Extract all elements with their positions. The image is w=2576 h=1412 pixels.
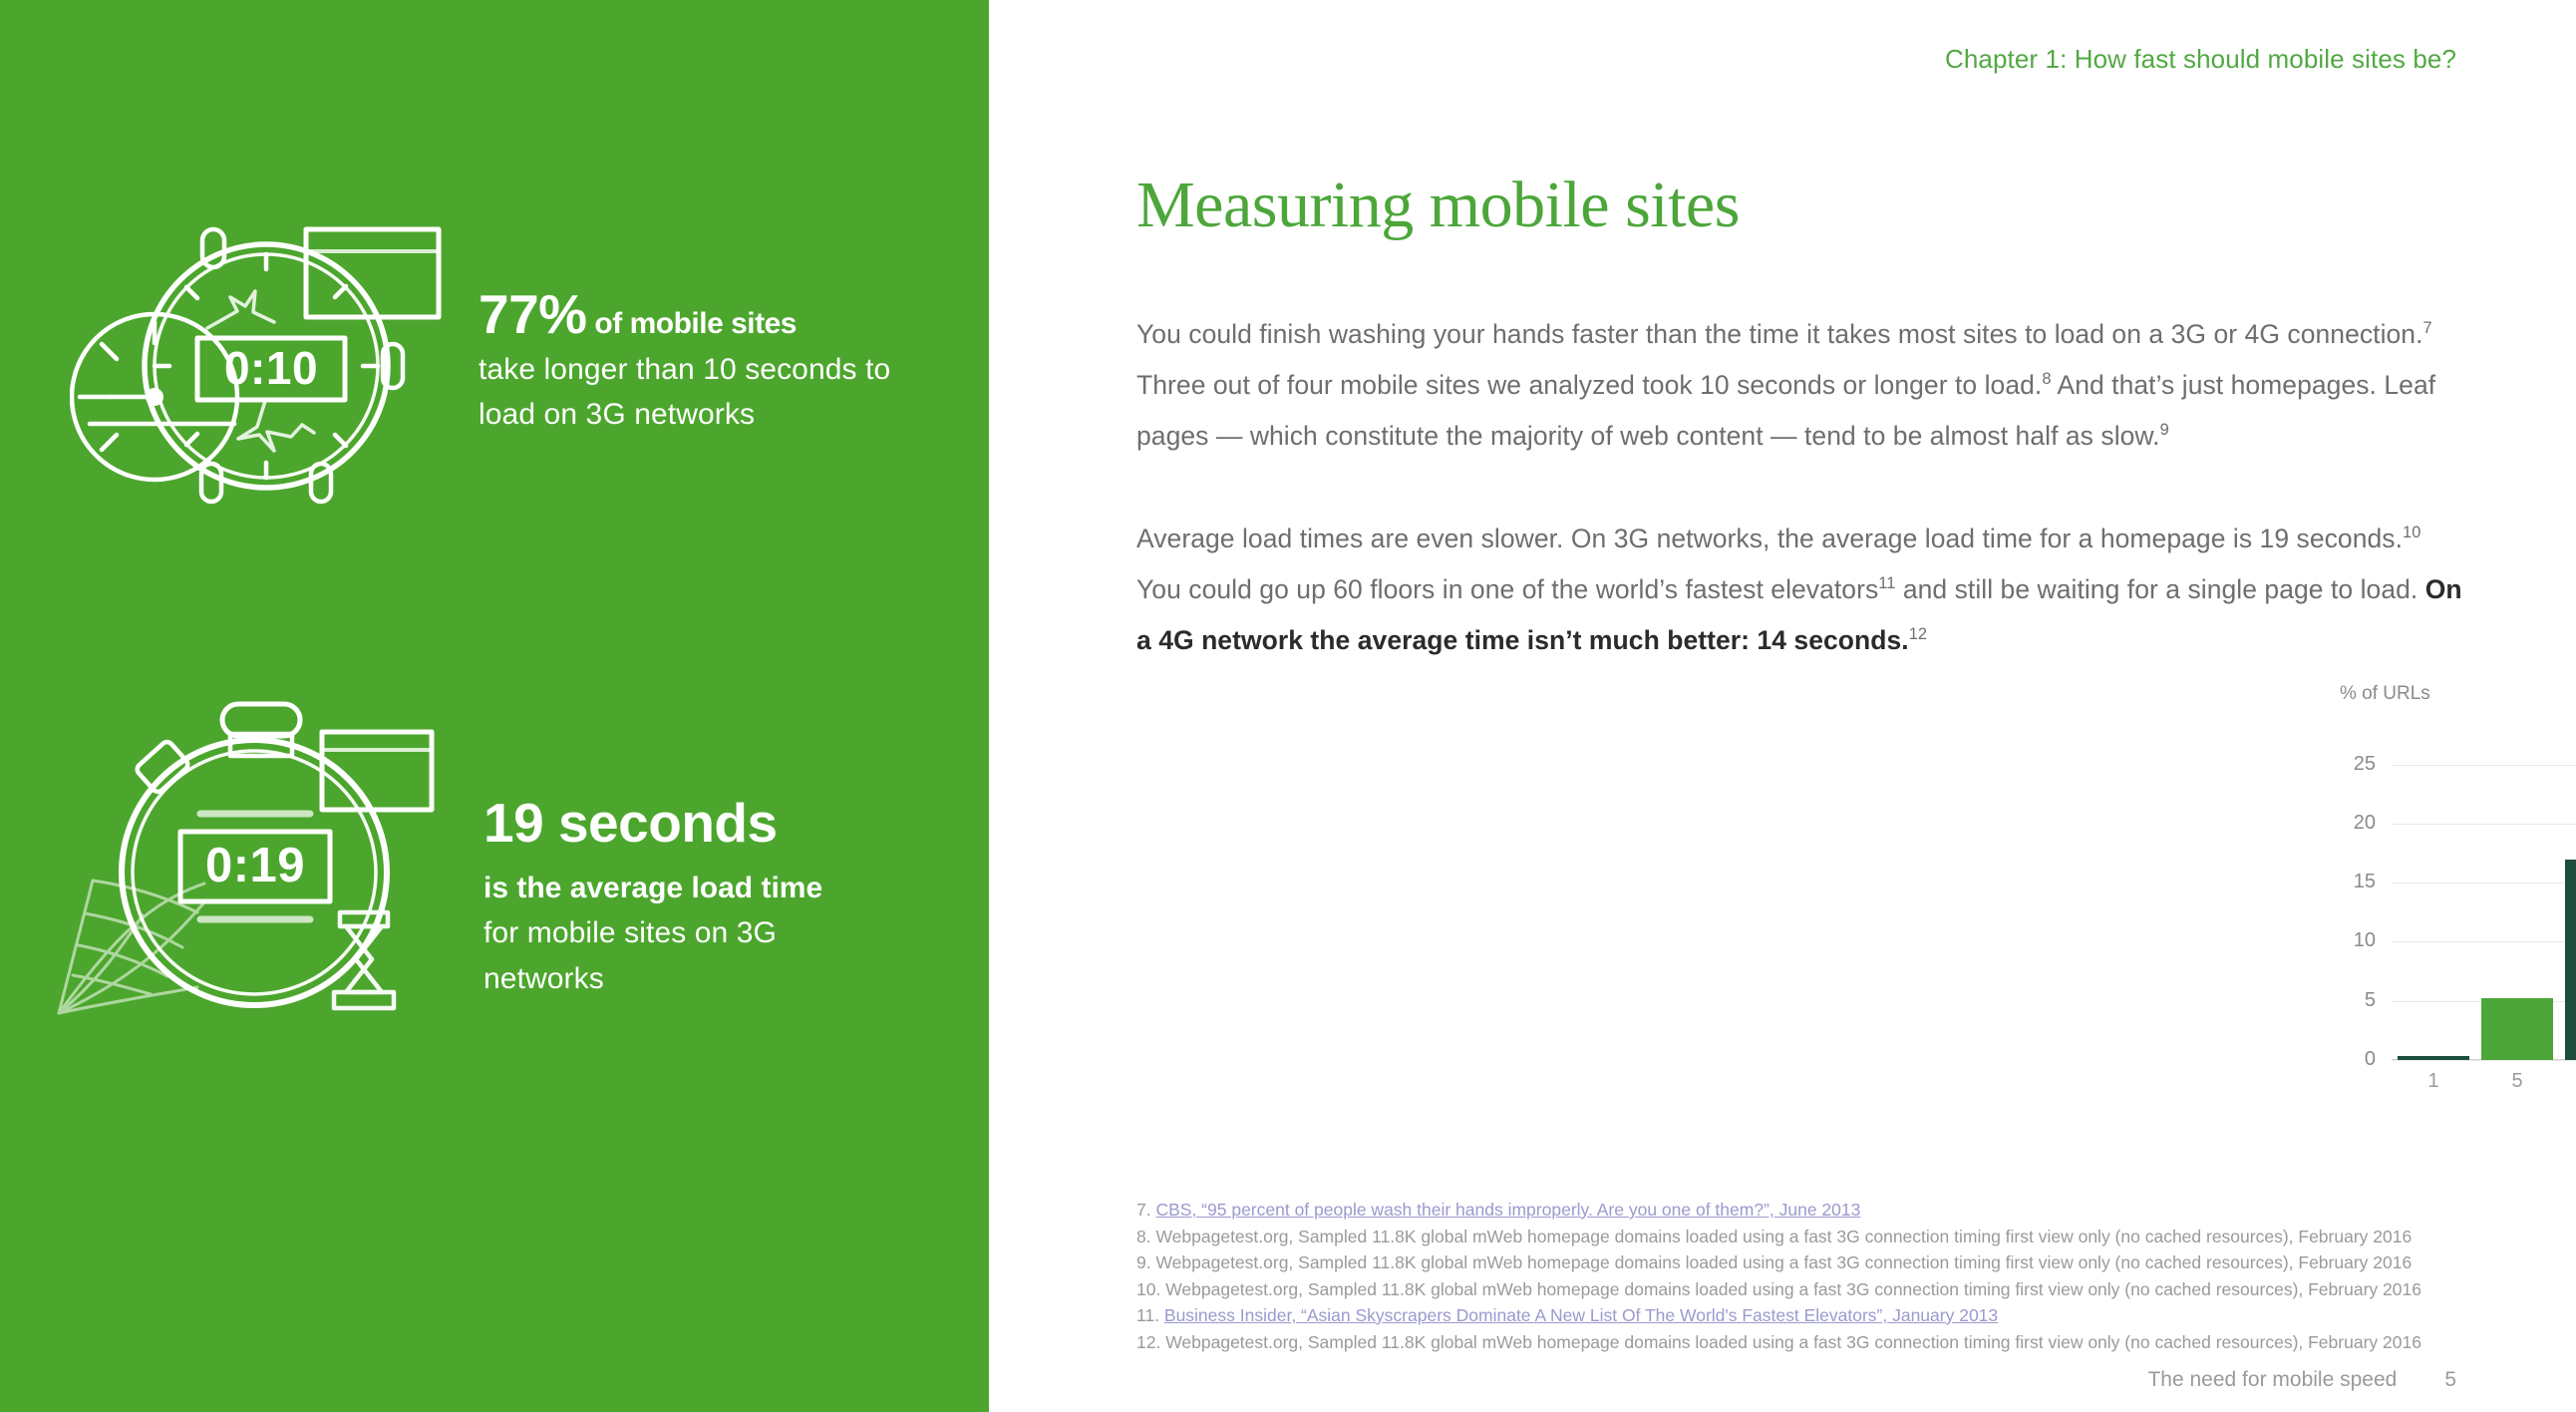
stat-one-text: 77% of mobile sites take longer than 10 … [479, 283, 897, 438]
footnote-number: 11. [1136, 1305, 1164, 1325]
stat-one-headline-rest: of mobile sites [587, 307, 797, 340]
x-tick-label: 1 [2392, 1070, 2475, 1093]
footnote-number: 8. [1136, 1227, 1155, 1246]
chart-bar [2565, 860, 2576, 1060]
footnote-item: 12. Webpagetest.org, Sampled 11.8K globa… [1136, 1329, 2492, 1356]
footnote-link[interactable]: Business Insider, “Asian Skyscrapers Dom… [1164, 1305, 1998, 1325]
chart-x-axis-label: Page load time (seconds) [2392, 1107, 2576, 1130]
footnote-ref-11: 11 [1878, 574, 1895, 592]
footnote-number: 9. [1136, 1252, 1155, 1272]
bar-slot [2392, 741, 2475, 1060]
chart-bar [2398, 1056, 2469, 1060]
gridline: 0 [2392, 1060, 2576, 1061]
stat-one-value: 77% [479, 283, 587, 345]
chart-x-tick-labels: 151015202530354045 [2392, 1070, 2576, 1093]
article-content: Chapter 1: How fast should mobile sites … [989, 0, 2576, 1412]
load-time-distribution-chart: % of URLs 0510152025 151015202530354045 … [2340, 683, 2576, 1102]
y-tick-label: 15 [2354, 871, 2376, 893]
footnote-text: Webpagetest.org, Sampled 11.8K global mW… [1155, 1252, 2412, 1272]
document-page: 0:10 77% of mobile sites take longer tha… [0, 0, 2576, 1412]
cobweb-stopwatch-icon: 0:19 [55, 688, 454, 1017]
page-footer: The need for mobile speed 5 [2147, 1368, 2456, 1392]
y-tick-label: 5 [2365, 989, 2376, 1012]
y-tick-label: 25 [2354, 753, 2376, 776]
timer-display: 0:10 [224, 342, 318, 394]
paragraph-1: You could finish washing your hands fast… [1136, 309, 2462, 462]
footnote-number: 7. [1136, 1200, 1155, 1220]
p2-part-b: You could go up 60 floors in one of the … [1136, 574, 1878, 604]
timer-display: 0:19 [205, 839, 305, 892]
paragraph-2: Average load times are even slower. On 3… [1136, 514, 2462, 666]
footnote-text: Webpagetest.org, Sampled 11.8K global mW… [1165, 1279, 2421, 1299]
footnote-item[interactable]: 11. Business Insider, “Asian Skyscrapers… [1136, 1302, 2492, 1329]
p1-part-a: You could finish washing your hands fast… [1136, 319, 2423, 349]
stat-one-headline: 77% of mobile sites [479, 283, 897, 347]
stat-two-subline: for mobile sites on 3G networks [483, 910, 902, 1001]
chapter-heading: Chapter 1: How fast should mobile sites … [1945, 44, 2456, 75]
footnote-text: Webpagetest.org, Sampled 11.8K global mW… [1155, 1227, 2412, 1246]
footnote-list: 7. CBS, “95 percent of people wash their… [1136, 1197, 2492, 1355]
chart-plot-area: 0510152025 [2392, 741, 2576, 1060]
stat-two-value: 19 seconds [483, 793, 902, 854]
x-tick-label: 10 [2559, 1070, 2576, 1093]
footnote-item[interactable]: 7. CBS, “95 percent of people wash their… [1136, 1197, 2492, 1224]
footnote-item: 9. Webpagetest.org, Sampled 11.8K global… [1136, 1249, 2492, 1276]
chart-y-axis-label: % of URLs [2340, 683, 2430, 705]
footer-page-number: 5 [2444, 1368, 2456, 1392]
cracked-alarm-clock-icon: 0:10 [70, 211, 459, 511]
p1-part-b: Three out of four mobile sites we analyz… [1136, 370, 2042, 400]
p2-part-a: Average load times are even slower. On 3… [1136, 524, 2403, 553]
stat-two-subline-bold: is the average load time [483, 866, 902, 911]
stat-two-text: 19 seconds is the average load time for … [483, 793, 902, 1001]
footnote-ref-10: 10 [2403, 524, 2420, 541]
y-tick-label: 0 [2365, 1048, 2376, 1071]
footer-doc-title: The need for mobile speed [2147, 1368, 2397, 1392]
x-tick-label: 5 [2475, 1070, 2559, 1093]
y-tick-label: 20 [2354, 812, 2376, 835]
stat-block-77-percent: 0:10 77% of mobile sites take longer tha… [70, 211, 897, 511]
stat-block-19-seconds: 0:19 19 seconds is the average load time… [55, 688, 902, 1017]
footnote-link[interactable]: CBS, “95 percent of people wash their ha… [1155, 1200, 1860, 1220]
chart-bar [2481, 998, 2553, 1060]
footnote-item: 8. Webpagetest.org, Sampled 11.8K global… [1136, 1224, 2492, 1250]
page-title: Measuring mobile sites [1136, 168, 1740, 243]
y-tick-label: 10 [2354, 930, 2376, 953]
footnote-ref-12: 12 [1909, 625, 1927, 643]
footnote-ref-9: 9 [2160, 421, 2169, 439]
footnote-number: 10. [1136, 1279, 1165, 1299]
footnote-item: 10. Webpagetest.org, Sampled 11.8K globa… [1136, 1276, 2492, 1303]
footnote-number: 12. [1136, 1332, 1165, 1352]
footnote-ref-7: 7 [2423, 319, 2432, 337]
p2-part-c: and still be waiting for a single page t… [1895, 574, 2424, 604]
bar-slot [2559, 741, 2576, 1060]
stat-one-subline: take longer than 10 seconds to load on 3… [479, 347, 897, 438]
stats-panel: 0:10 77% of mobile sites take longer tha… [0, 0, 989, 1412]
footnote-ref-8: 8 [2042, 370, 2051, 388]
bar-slot [2475, 741, 2559, 1060]
chart-bars [2392, 741, 2576, 1060]
footnote-text: Webpagetest.org, Sampled 11.8K global mW… [1165, 1332, 2421, 1352]
